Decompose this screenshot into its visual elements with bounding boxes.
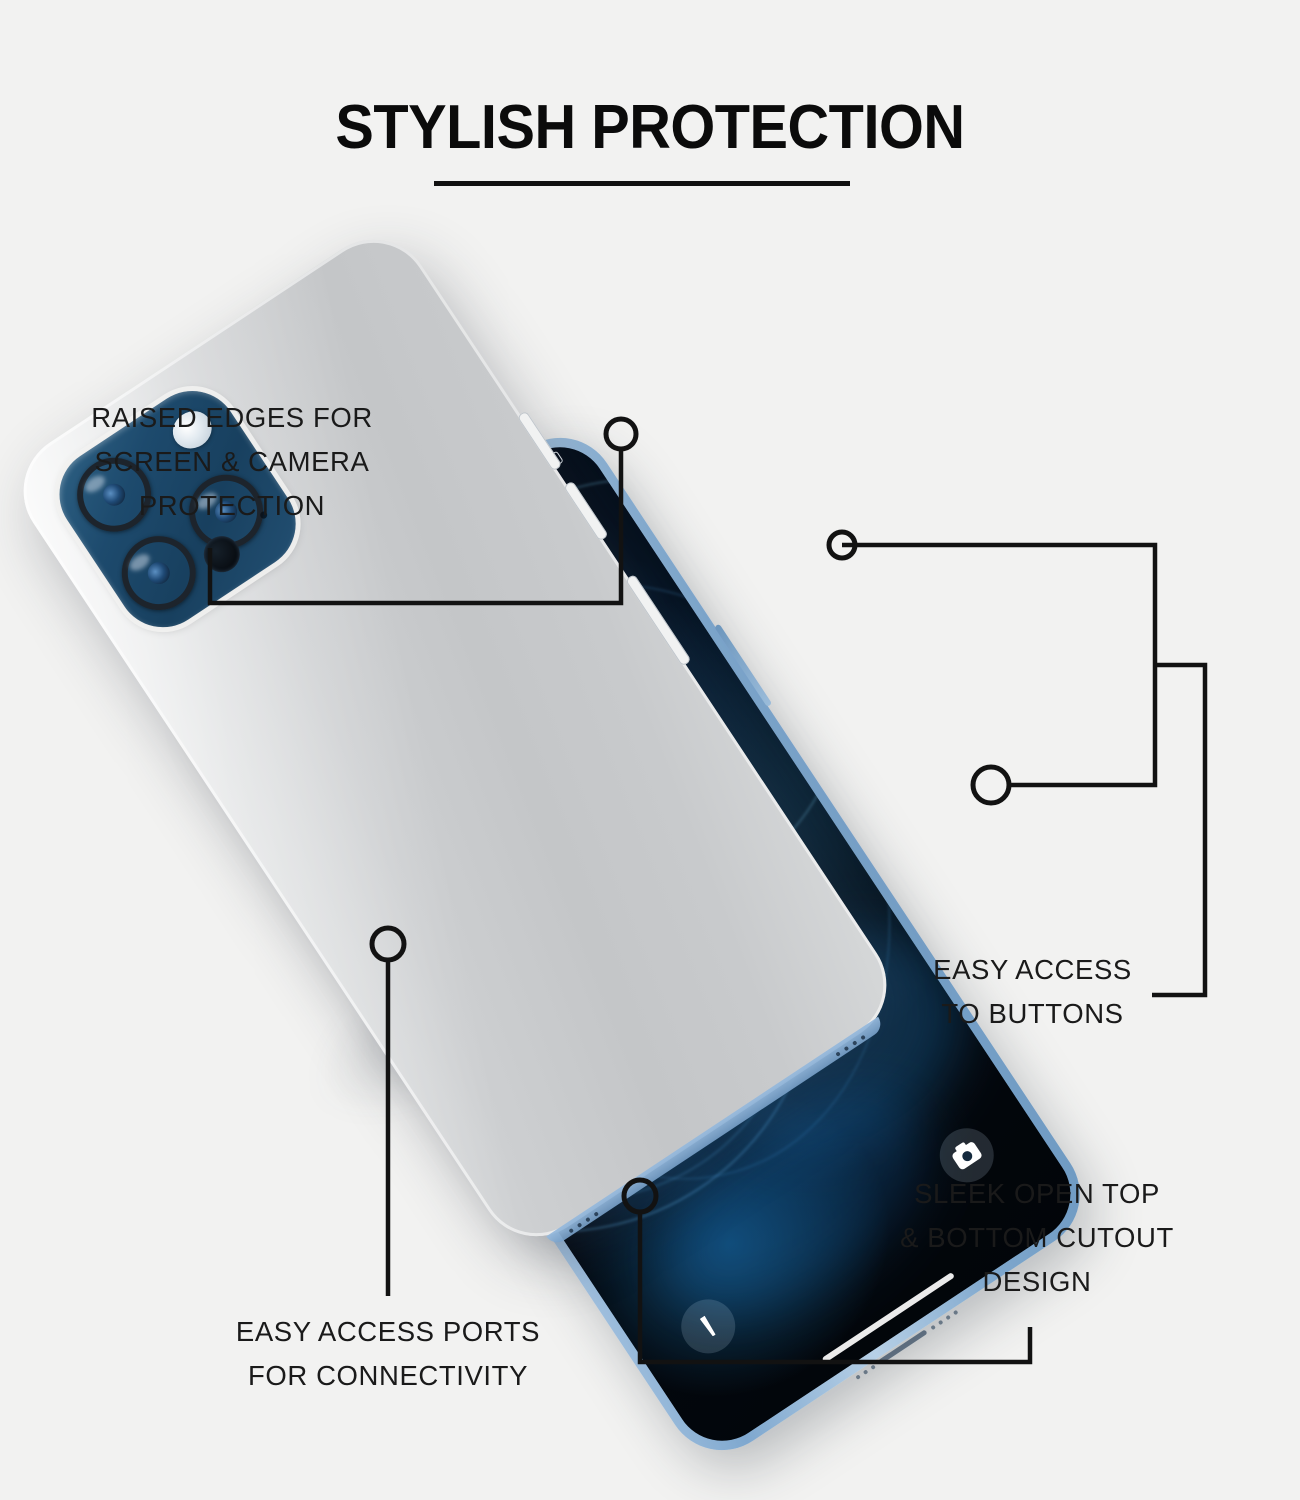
title-underline: [434, 181, 850, 186]
page-title: STYLISH PROTECTION: [46, 92, 1255, 163]
marker-raised-edges: [606, 419, 636, 449]
callout-raised-edges: RAISED EDGES FOR SCREEN & CAMERA PROTECT…: [30, 396, 434, 528]
marker-buttons-notch: [829, 532, 855, 558]
callout-easy-access-ports: EASY ACCESS PORTS FOR CONNECTIVITY: [196, 1310, 580, 1398]
callout-sleek-cutout-design: SLEEK OPEN TOP & BOTTOM CUTOUT DESIGN: [872, 1172, 1202, 1304]
camera-lens-icon: [108, 522, 211, 625]
marker-buttons-side: [973, 767, 1009, 803]
speaker-grille-icon: [930, 1310, 958, 1330]
leader-buttons-top-arm: [842, 545, 1155, 785]
speaker-grille-icon: [855, 1364, 876, 1379]
leader-buttons-out: [1152, 665, 1205, 995]
callout-easy-access-buttons: EASY ACCESS TO BUTTONS: [880, 948, 1185, 1036]
infographic-canvas: STYLISH PROTECTION: [0, 0, 1300, 1500]
